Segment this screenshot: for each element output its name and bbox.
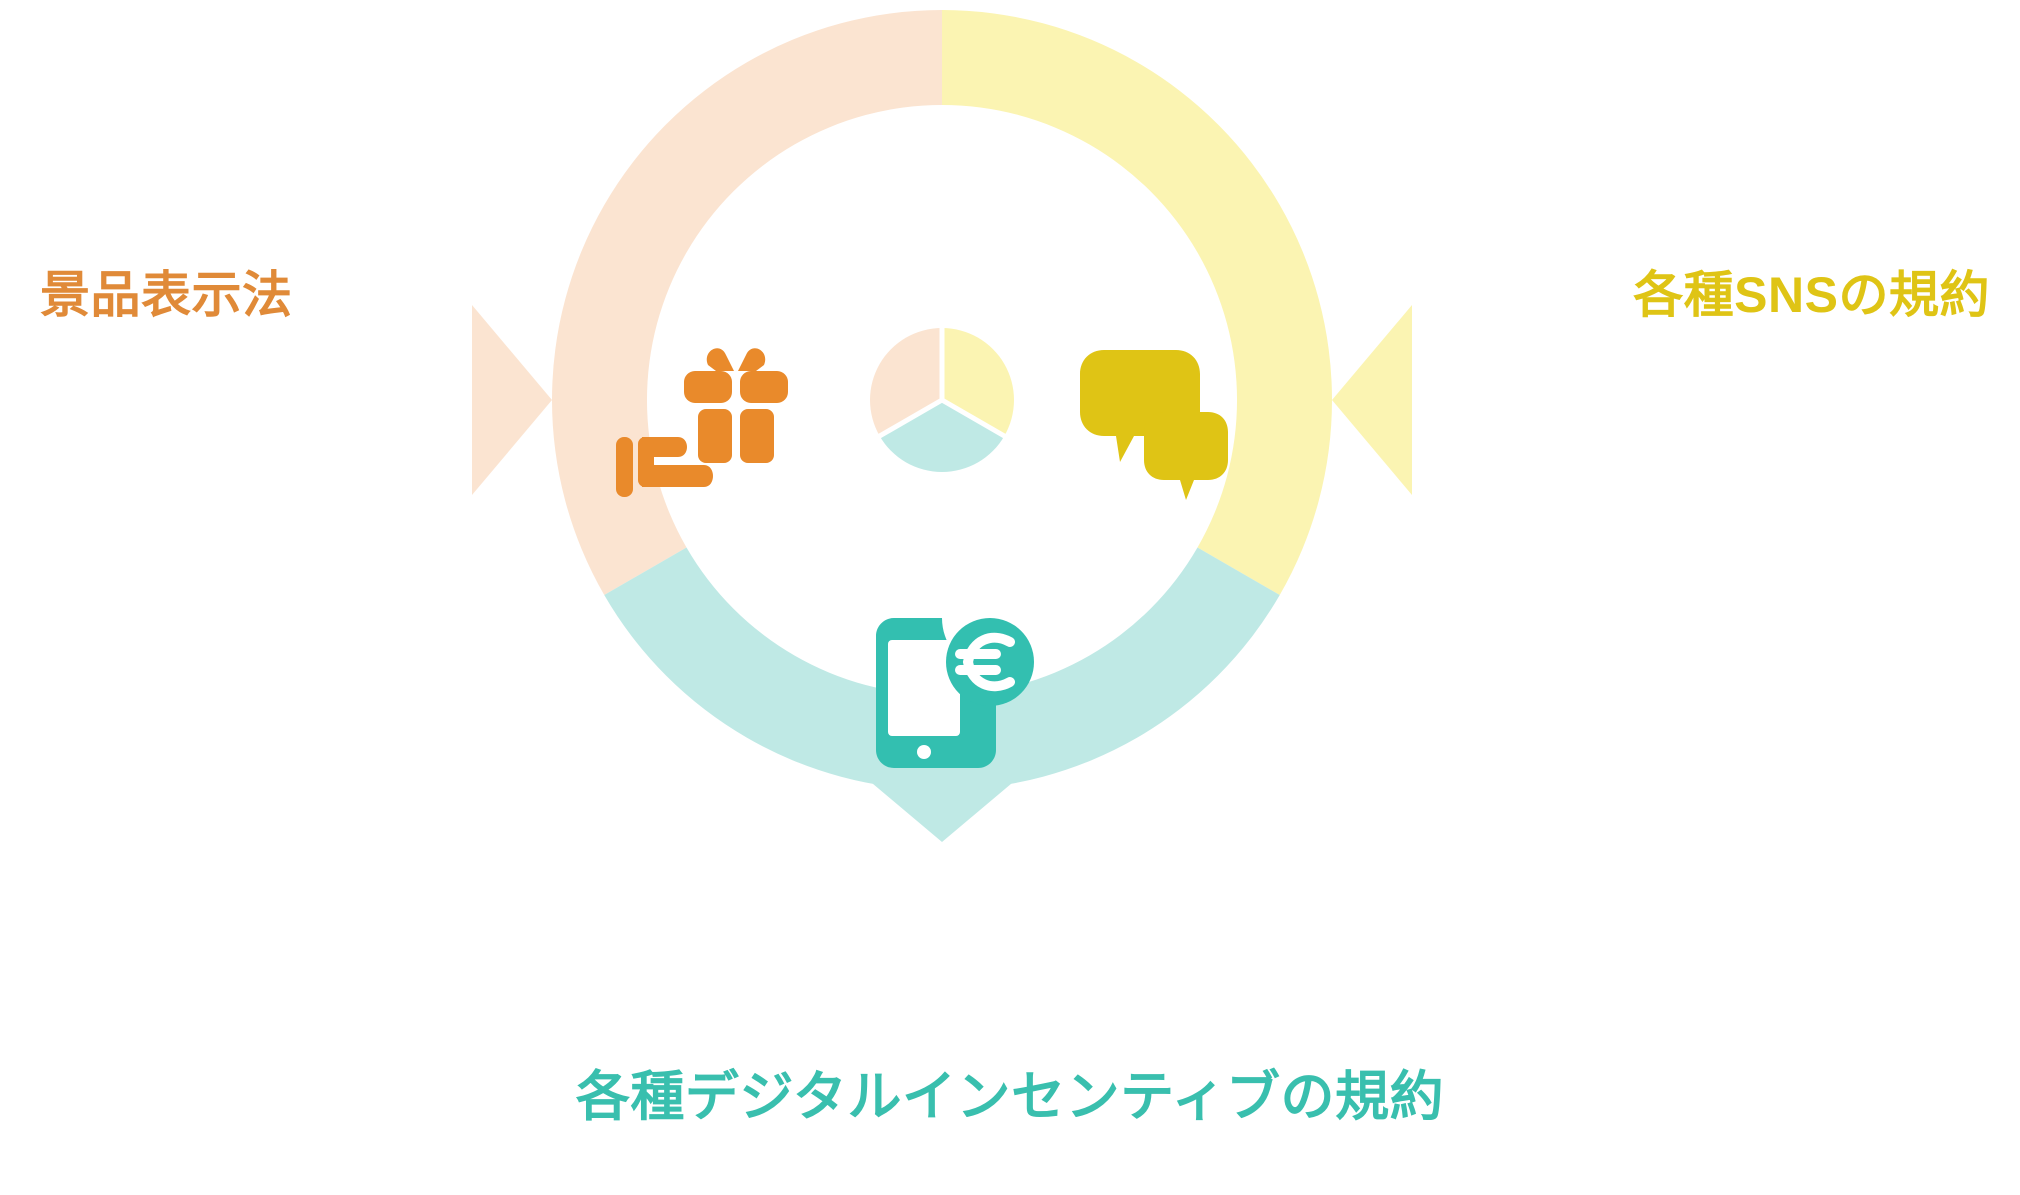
- segment-keihin-notch-icon: [472, 305, 552, 495]
- segment-keihin-band[interactable]: [552, 10, 942, 595]
- segment-sns-notch-icon: [1332, 305, 1412, 495]
- donut-diagram: [0, 0, 2020, 1195]
- segment-sns[interactable]: [942, 10, 1412, 595]
- segment-keihin[interactable]: [472, 10, 942, 595]
- segment-sns-band[interactable]: [942, 10, 1332, 595]
- segment-label-digital-incentive[interactable]: 各種デジタルインセンティブの規約: [0, 1068, 2020, 1127]
- segment-label-sns[interactable]: 各種SNSの規約: [1633, 268, 1990, 323]
- center-pie-chart: [870, 326, 1014, 472]
- diagram-canvas: 景品表示法 各種SNSの規約 各種デジタルインセンティブの規約: [0, 0, 2020, 1195]
- segment-digital-incentive-notch-icon: [847, 762, 1037, 842]
- segment-label-keihin[interactable]: 景品表示法: [40, 268, 293, 323]
- speech-bubbles-icon: [1080, 350, 1228, 500]
